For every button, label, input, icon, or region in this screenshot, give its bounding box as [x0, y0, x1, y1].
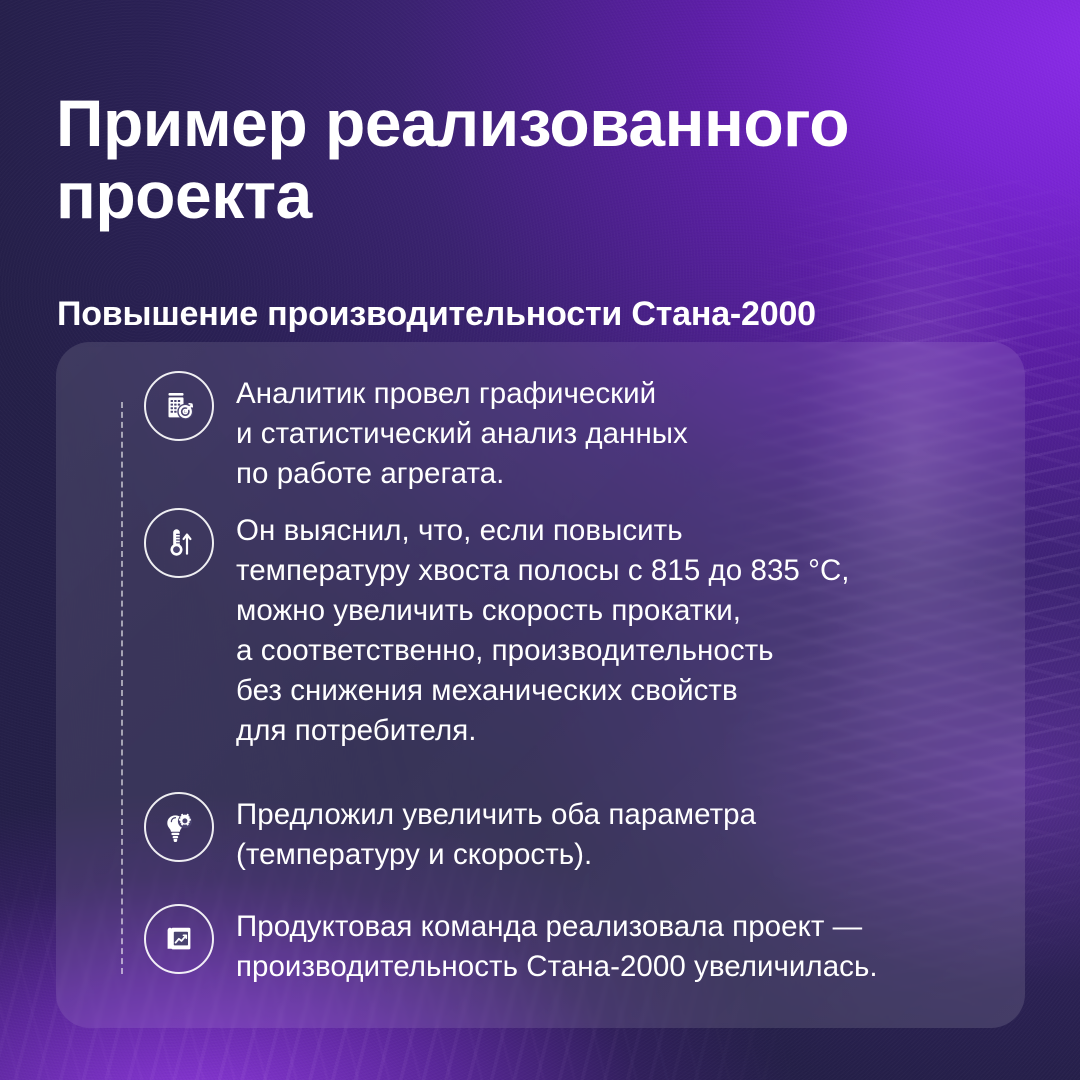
list-item: Аналитик провел графический и статистиче… [144, 371, 688, 494]
list-item: Он выяснил, что, если повысить температу… [144, 508, 850, 751]
list-item-text: Предложил увеличить оба параметра (темпе… [236, 792, 756, 875]
page-title: Пример реализованного проекта [56, 88, 1006, 232]
thermometer-up-icon [144, 508, 214, 578]
lightbulb-gear-icon [144, 792, 214, 862]
list-item-text: Продуктовая команда реализовала проект —… [236, 904, 878, 987]
list-item-text: Он выяснил, что, если повысить температу… [236, 508, 850, 751]
report-target-icon [144, 371, 214, 441]
chart-document-icon [144, 904, 214, 974]
slide-root: Пример реализованного проекта Повышение … [0, 0, 1080, 1080]
list-item: Продуктовая команда реализовала проект —… [144, 904, 878, 987]
list-item: Предложил увеличить оба параметра (темпе… [144, 792, 756, 875]
list-item-text: Аналитик провел графический и статистиче… [236, 371, 688, 494]
page-subtitle: Повышение производительности Стана-2000 [57, 294, 1037, 335]
bullet-list: Аналитик провел графический и статистиче… [56, 342, 1025, 1028]
content-card: Аналитик провел графический и статистиче… [56, 342, 1025, 1028]
